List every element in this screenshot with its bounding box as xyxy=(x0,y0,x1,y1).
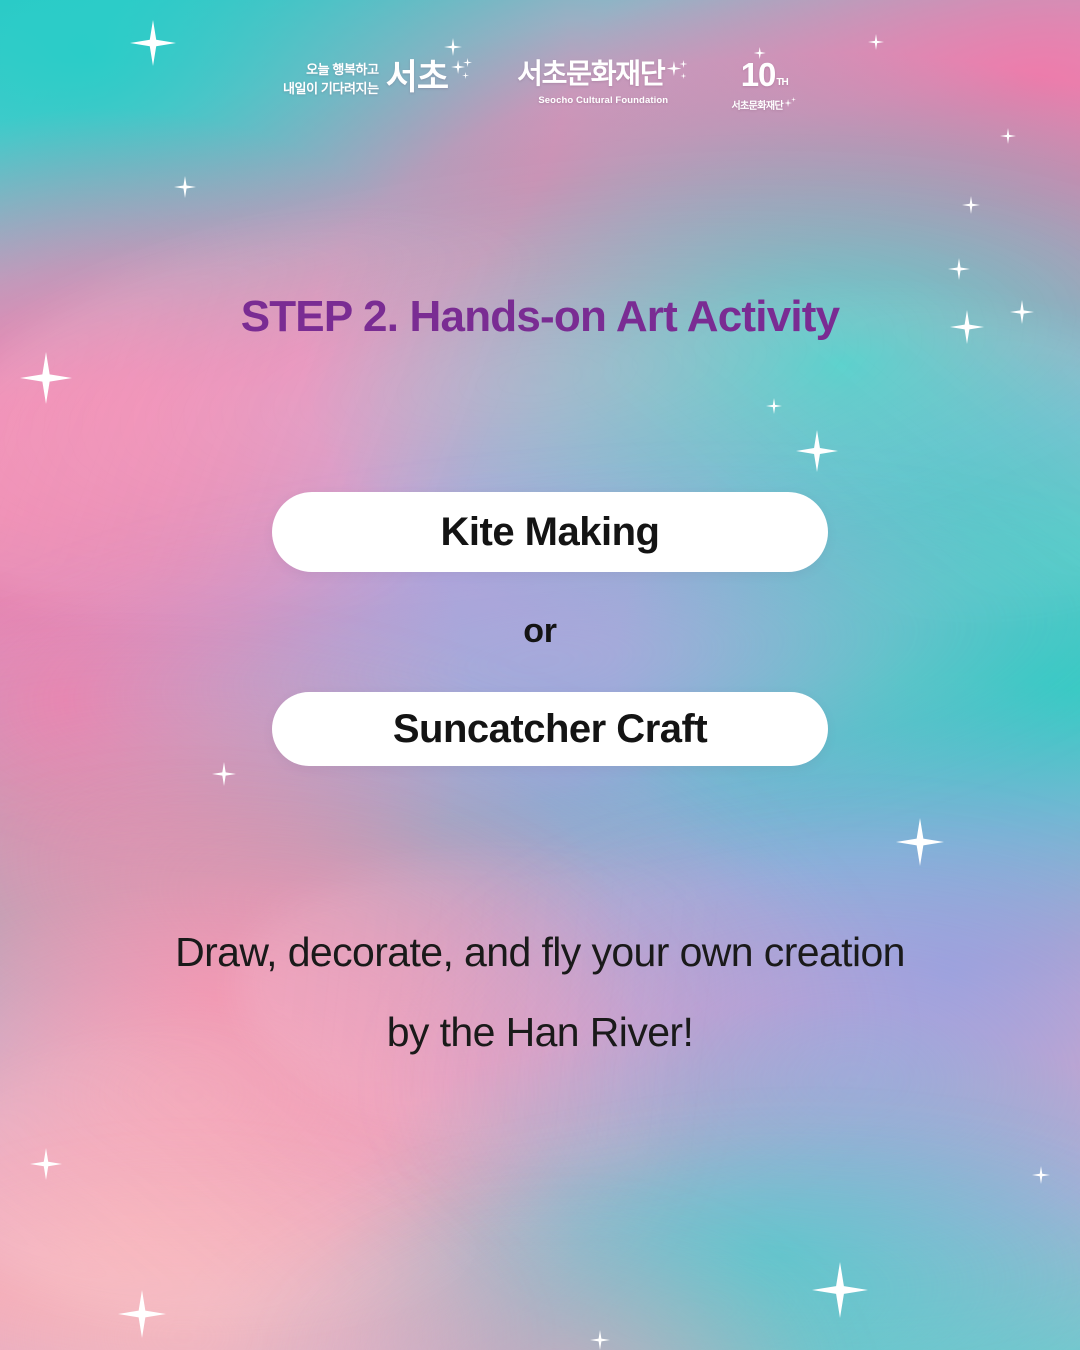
foundation-sparkle-icon xyxy=(665,60,689,88)
seocho-district-slogan: 오늘 행복하고 내일이 기다려지는 xyxy=(283,58,386,99)
activity-option-label: Suncatcher Craft xyxy=(393,707,707,752)
page-title: STEP 2. Hands-on Art Activity xyxy=(0,292,1080,342)
anniversary-korean-name-row: 서초문화재단 xyxy=(731,97,797,112)
poster-content: STEP 2. Hands-on Art Activity Kite Makin… xyxy=(0,0,1080,1350)
anniversary-number: 10 TH xyxy=(741,58,788,91)
anniversary-suffix: TH xyxy=(776,78,787,88)
slogan-line-2: 내일이 기다려지는 xyxy=(283,80,379,99)
anniversary-korean-name: 서초문화재단 xyxy=(731,97,783,112)
activity-option-kite-making[interactable]: Kite Making xyxy=(272,492,828,572)
seocho-district-logo: 오늘 행복하고 내일이 기다려지는 서초 xyxy=(283,58,475,99)
foundation-wordmark-row: 서초문화재단 xyxy=(517,60,689,88)
anniversary-sparkle-icon xyxy=(784,97,797,110)
foundation-english-name: Seocho Cultural Foundation xyxy=(538,95,668,106)
seocho-cultural-foundation-logo: 서초문화재단 Seocho Cultural Foundation xyxy=(517,58,689,106)
logo-bar: 오늘 행복하고 내일이 기다려지는 서초 서초문화재단 Seocho Cultu… xyxy=(0,58,1080,112)
activity-option-suncatcher-craft[interactable]: Suncatcher Craft xyxy=(272,692,828,766)
anniversary-number-text: 10 xyxy=(741,58,776,91)
seocho-sparkle-icon xyxy=(449,58,475,92)
poster-canvas: 오늘 행복하고 내일이 기다려지는 서초 서초문화재단 Seocho Cultu… xyxy=(0,0,1080,1350)
foundation-korean-name: 서초문화재단 xyxy=(517,60,664,88)
slogan-line-1: 오늘 행복하고 xyxy=(306,61,379,80)
seocho-wordmark: 서초 xyxy=(386,60,448,97)
description-line-2: by the Han River! xyxy=(0,992,1080,1072)
description-text: Draw, decorate, and fly your own creatio… xyxy=(0,912,1080,1072)
description-line-1: Draw, decorate, and fly your own creatio… xyxy=(0,912,1080,992)
tenth-anniversary-logo: 10 TH 서초문화재단 xyxy=(731,58,797,112)
activity-option-label: Kite Making xyxy=(441,510,660,555)
options-conjunction: or xyxy=(0,612,1080,651)
